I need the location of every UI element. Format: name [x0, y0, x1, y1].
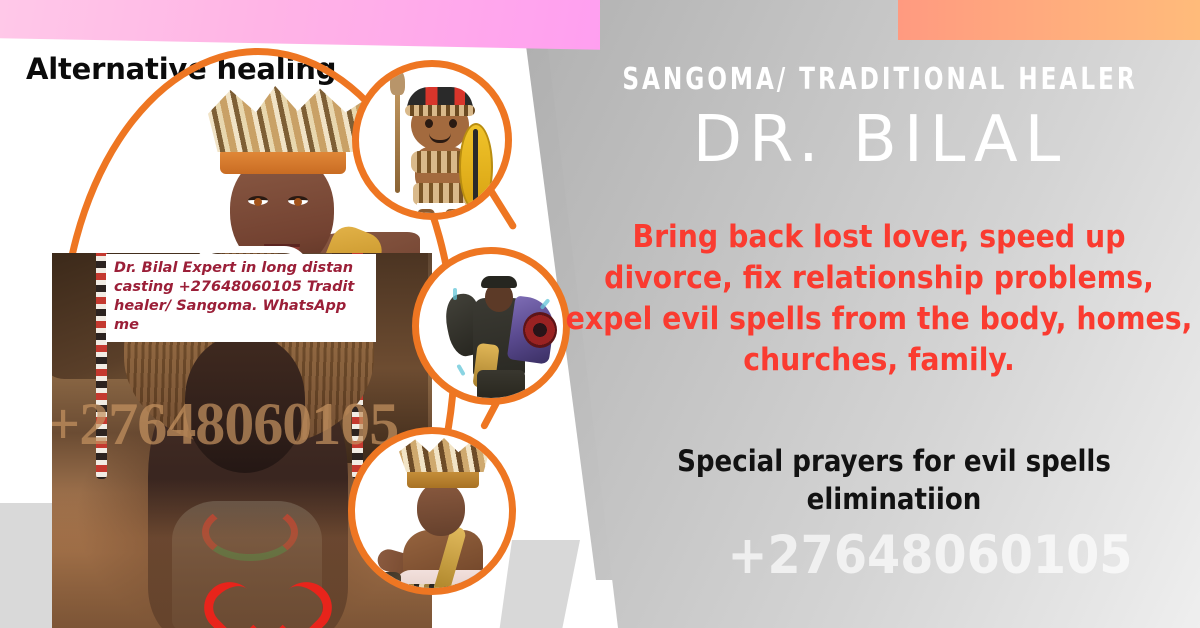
- warrior-foot-right: [445, 209, 463, 220]
- warrior-headband: [405, 105, 475, 116]
- brand-name: DR. BILAL: [562, 103, 1198, 177]
- sparkle-icon: [453, 288, 457, 300]
- phone-watermark: +27648060105: [52, 390, 398, 459]
- photo-caption-box: Dr. Bilal Expert in long distan casting …: [106, 254, 376, 342]
- sangoma-feather-headdress: [399, 438, 489, 472]
- chief-feather-crown: [208, 86, 368, 152]
- bubble-healer-with-shield: [412, 247, 570, 405]
- healer2-foot-right: [505, 404, 523, 405]
- warrior-eye-left: [425, 119, 433, 128]
- pink-top-band: [0, 0, 600, 50]
- sangoma-head: [417, 482, 465, 536]
- warrior-foot-left: [417, 209, 435, 220]
- warrior-shield-stick: [473, 129, 478, 205]
- healer2-legs: [477, 370, 525, 405]
- services-black-text: Special prayers for evil spells eliminat…: [594, 443, 1194, 518]
- bubble-crouching-sangoma: [348, 427, 516, 595]
- healer2-hat: [481, 276, 517, 288]
- caption-line-1: Dr. Bilal Expert in long distan: [114, 259, 368, 278]
- caption-line-3: healer/ Sangoma. WhatsApp me: [114, 297, 368, 335]
- services-red-text: Bring back lost lover, speed up divorce,…: [564, 217, 1194, 381]
- chief-pupil-left: [254, 198, 262, 206]
- warrior-eye-right: [449, 119, 457, 128]
- poster-canvas: Alternative healing +27648060105 Ask the…: [0, 0, 1200, 628]
- healer2-foot-left: [475, 404, 493, 405]
- warrior-spear-tip: [390, 69, 405, 95]
- kicker-title: SANGOMA/ TRADITIONAL HEALER: [607, 62, 1154, 97]
- caption-line-2: casting +27648060105 Tradit: [114, 278, 368, 297]
- chief-pupil-right: [294, 198, 302, 206]
- grey-left-foot-shape: [0, 503, 52, 628]
- phone-number-ghost: +27648060105: [660, 525, 1200, 586]
- red-heart-overlay: [232, 583, 316, 628]
- bubble-zulu-warrior-cartoon: [352, 60, 512, 220]
- healer2-shield: [523, 312, 557, 348]
- right-text-column: SANGOMA/ TRADITIONAL HEALER DR. BILAL Br…: [560, 0, 1200, 628]
- sparkle-icon: [456, 364, 465, 376]
